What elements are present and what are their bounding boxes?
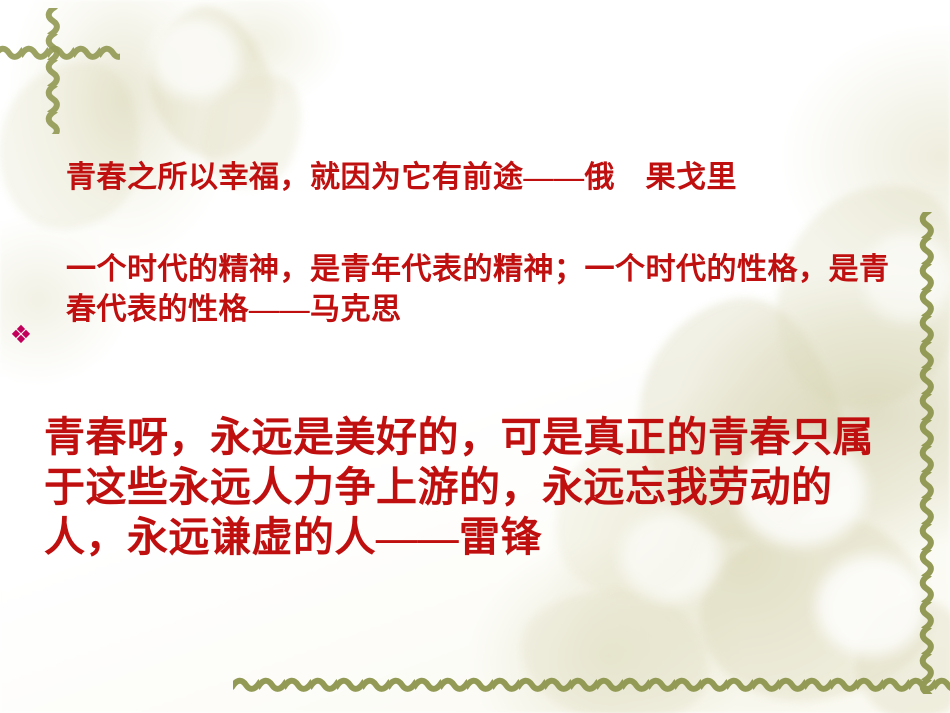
diamond-bullet-icon: ❖	[8, 322, 34, 348]
background-floral-petals	[0, 0, 950, 713]
background-highlight-blooms	[0, 0, 950, 713]
ornament-top-left-vertical-wave	[44, 8, 60, 134]
quote-text-leifeng: 青春呀，永远是美好的，可是真正的青春只属于这些永远人力争上游的，永远忘我劳动的人…	[44, 412, 914, 562]
petal-shape	[0, 51, 151, 239]
ornament-top-left-horizontal-wave	[0, 44, 120, 60]
ornament-bottom-horizontal-wave	[233, 676, 950, 692]
highlight-bloom	[816, 556, 926, 656]
slide-canvas: ❖ 青春之所以幸福，就因为它有前途——俄 果戈里 一个时代的精神，是青年代表的精…	[0, 0, 950, 713]
petal-shape	[510, 574, 720, 713]
highlight-bloom	[150, 18, 240, 98]
background-watercolor-wash	[0, 0, 950, 713]
quote-text-gogol: 青春之所以幸福，就因为它有前途——俄 果戈里	[66, 158, 926, 198]
petal-shape	[130, 0, 290, 173]
ornament-right-vertical-wave	[918, 212, 934, 694]
quote-text-marx: 一个时代的精神，是青年代表的精神；一个时代的性格，是青春代表的性格——马克思	[66, 250, 896, 330]
